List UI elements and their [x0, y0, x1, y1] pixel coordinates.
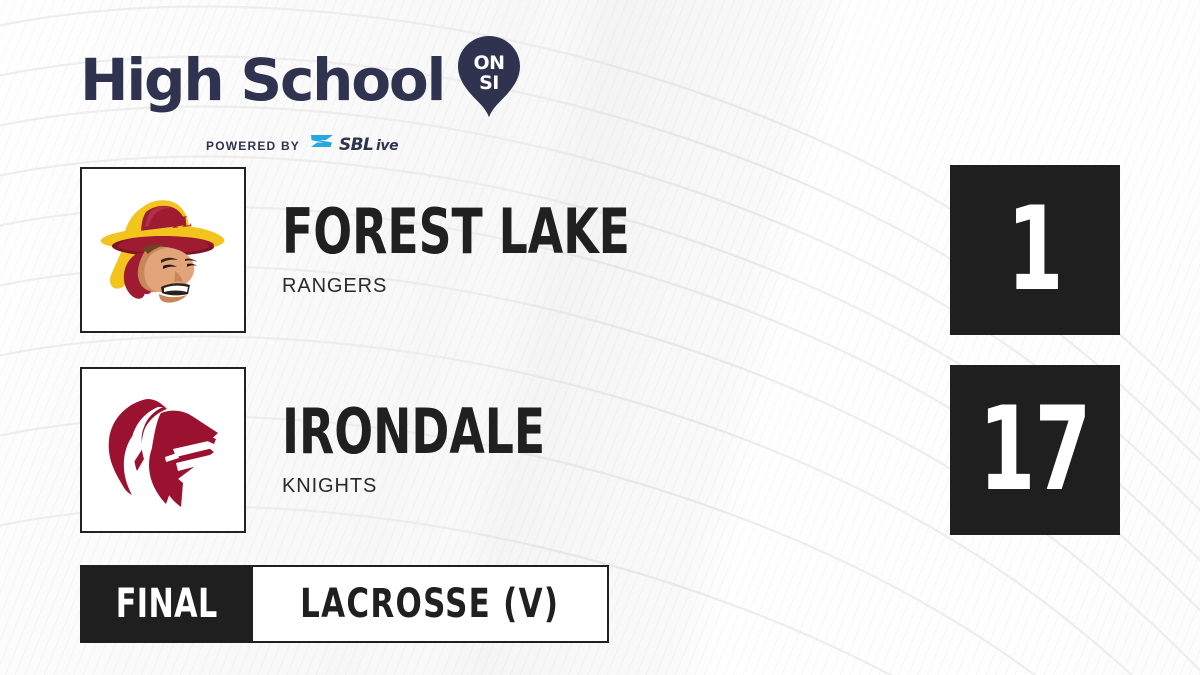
- sport-label: LACROSSE (V): [300, 581, 559, 627]
- brand-logo: High School ON SI POWERED BY SBL ive: [80, 36, 510, 132]
- svg-text:ON: ON: [474, 52, 505, 74]
- sblive-logo-icon: SBL ive: [309, 132, 417, 159]
- team-logo-box-irondale: [80, 367, 246, 533]
- team-score: 1: [1007, 192, 1063, 308]
- brand-logo-row: High School ON SI: [80, 36, 510, 123]
- svg-text:SBL: SBL: [339, 135, 373, 154]
- team-score: 17: [979, 392, 1091, 508]
- team-name: FOREST LAKE: [282, 202, 969, 263]
- on-si-pin-icon: ON SI: [458, 36, 520, 123]
- team-score-box: 1: [950, 165, 1120, 335]
- svg-text:SI: SI: [479, 72, 499, 94]
- brand-title: High School: [80, 51, 444, 109]
- powered-by-row: POWERED BY SBL ive: [80, 132, 510, 159]
- svg-text:FL: FL: [171, 214, 193, 232]
- scoreboard-graphic: High School ON SI POWERED BY SBL ive: [0, 0, 1200, 675]
- team-score-box: 17: [950, 365, 1120, 535]
- powered-by-label: POWERED BY: [206, 139, 300, 153]
- team-name: IRONDALE: [282, 402, 969, 463]
- status-badge: FINAL: [80, 565, 253, 643]
- status-badge-label: FINAL: [116, 581, 218, 627]
- team-logo-box-forest-lake: FL: [80, 167, 246, 333]
- ranger-mascot-logo-icon: FL: [99, 191, 227, 309]
- game-status-bar: FINAL LACROSSE (V): [80, 565, 609, 643]
- knight-helmet-logo-icon: [103, 391, 223, 509]
- sport-label-panel: LACROSSE (V): [253, 565, 608, 643]
- svg-text:ive: ive: [376, 138, 398, 154]
